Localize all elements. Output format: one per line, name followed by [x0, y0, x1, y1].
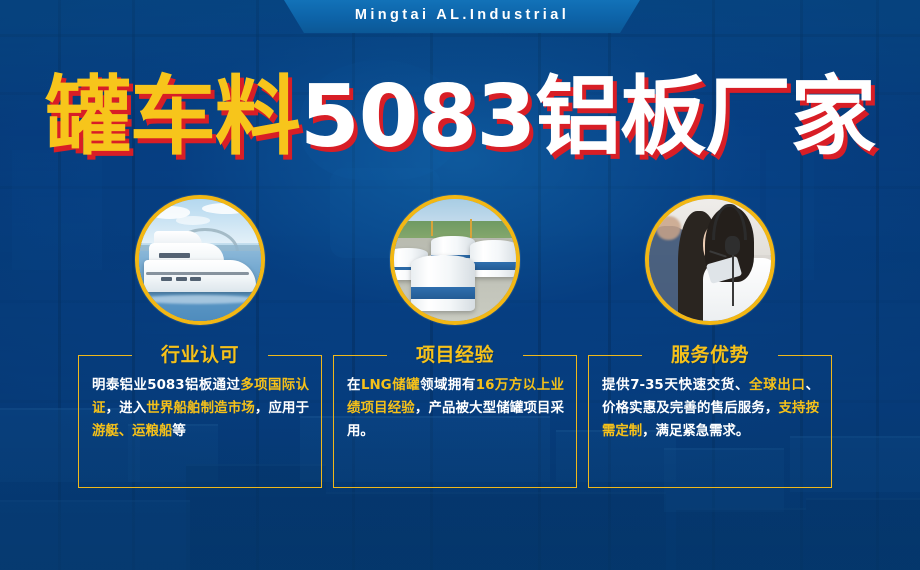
yacht-image	[135, 195, 265, 325]
card-industry-recognition: 行业认可 明泰铝业5083铝板通过多项国际认证，进入世界船舶制造市场，应用于游艇…	[78, 346, 322, 488]
body-text: 明泰铝业5083铝板通过	[92, 378, 240, 393]
card-title: 行业认可	[161, 346, 239, 365]
body-text: 提供7-35天快速交货、	[602, 378, 749, 393]
card-body: 提供7-35天快速交货、全球出口、价格实惠及完善的售后服务，支持按需定制，满足紧…	[602, 374, 819, 443]
highlight-text: LNG储罐	[361, 378, 420, 393]
customer-service-image	[645, 195, 775, 325]
card-title: 项目经验	[416, 346, 494, 365]
body-text: 领域拥有	[420, 378, 476, 393]
body-text: ，进入	[106, 401, 147, 416]
body-text: 等	[172, 424, 185, 439]
body-text: ，应用于	[255, 401, 309, 416]
page-title-gold: 罐车料	[45, 74, 300, 160]
card-service-advantage: 服务优势 提供7-35天快速交货、全球出口、价格实惠及完善的售后服务，支持按需定…	[588, 346, 832, 488]
page-title: 罐车料5083铝板厂家	[0, 62, 920, 172]
brand-banner-text: Mingtai AL.Industrial	[355, 8, 569, 25]
lng-tanks-image	[390, 195, 520, 325]
highlight-text: 世界船舶制造市场	[146, 401, 255, 416]
feature-cards: 行业认可 明泰铝业5083铝板通过多项国际认证，进入世界船舶制造市场，应用于游艇…	[0, 346, 920, 496]
highlight-text: 游艇、运粮船	[92, 424, 172, 439]
card-project-experience: 项目经验 在LNG储罐领域拥有16万方以上业绩项目经验，产品被大型储罐项目采用。	[333, 346, 577, 488]
brand-banner: Mingtai AL.Industrial	[252, 0, 672, 33]
highlight-text: 全球出口	[749, 378, 805, 393]
card-body: 明泰铝业5083铝板通过多项国际认证，进入世界船舶制造市场，应用于游艇、运粮船等	[92, 374, 309, 443]
card-title: 服务优势	[671, 346, 749, 365]
feature-images	[0, 195, 920, 335]
card-body: 在LNG储罐领域拥有16万方以上业绩项目经验，产品被大型储罐项目采用。	[347, 374, 564, 443]
page-title-white: 5083铝板厂家	[300, 74, 875, 160]
body-text: 在	[347, 378, 361, 393]
body-text: ，满足紧急需求。	[642, 424, 749, 439]
